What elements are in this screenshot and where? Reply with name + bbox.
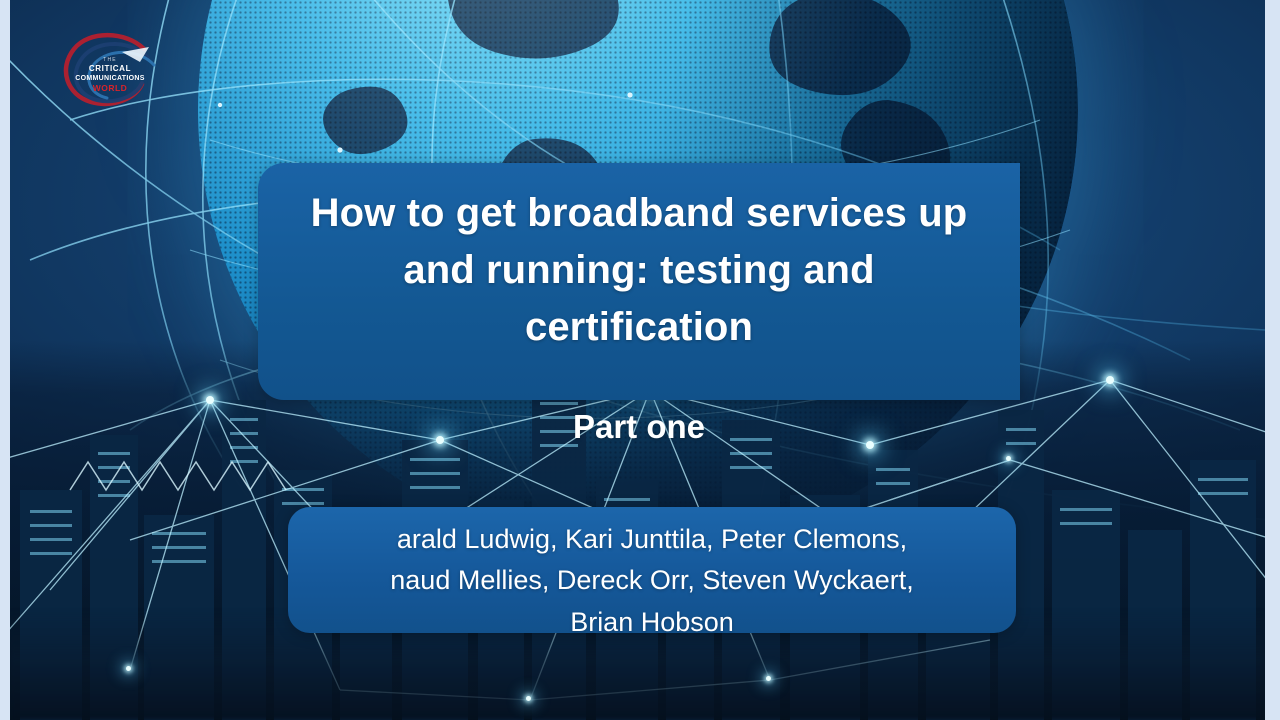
network-node (1106, 376, 1114, 384)
logo-line-one: CRITICAL (89, 64, 131, 73)
logo-line-small: THE (103, 57, 117, 63)
slide-canvas: THE CRITICAL COMMUNICATIONS WORLD How to… (10, 0, 1265, 720)
network-node (766, 676, 771, 681)
authors-list: arald Ludwig, Kari Junttila, Peter Clemo… (308, 519, 996, 643)
network-node (1006, 456, 1011, 461)
slide-subtitle: Part one (284, 407, 994, 447)
network-node (126, 666, 131, 671)
network-node (206, 396, 214, 404)
logo-line-two: COMMUNICATIONS (75, 75, 144, 82)
title-card: How to get broadband services up and run… (258, 163, 1020, 400)
network-node (526, 696, 531, 701)
slide-title: How to get broadband services up and run… (284, 185, 994, 355)
authors-card: arald Ludwig, Kari Junttila, Peter Clemo… (288, 507, 1016, 633)
slide-frame: THE CRITICAL COMMUNICATIONS WORLD How to… (0, 0, 1280, 720)
logo-line-three: WORLD (93, 83, 128, 93)
critical-communications-world-logo: THE CRITICAL COMMUNICATIONS WORLD (56, 32, 164, 108)
